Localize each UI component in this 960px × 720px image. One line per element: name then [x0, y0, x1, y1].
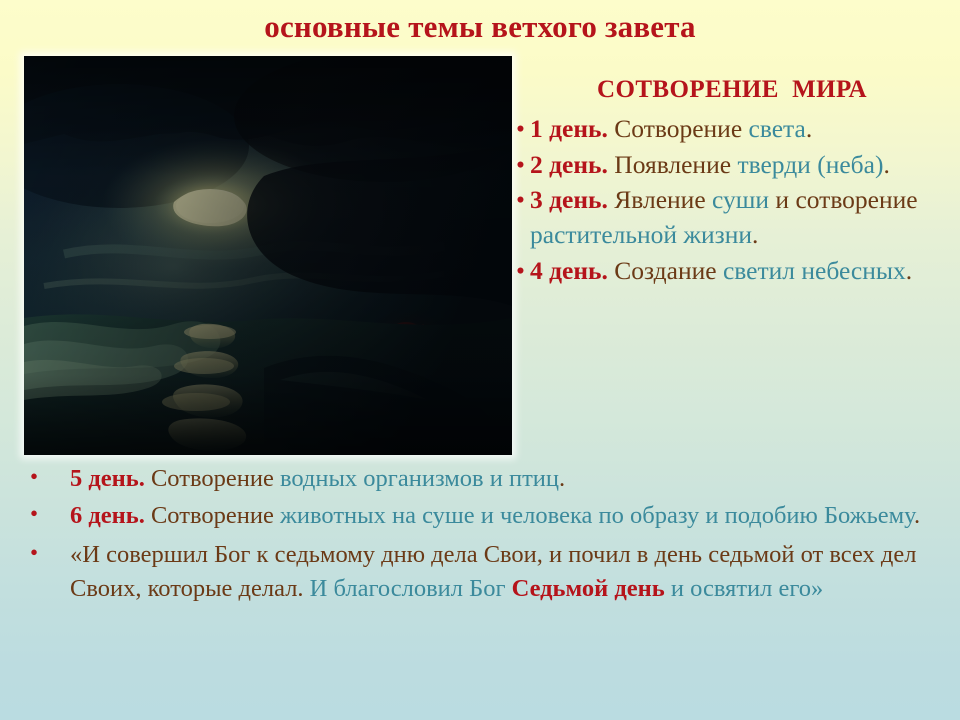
day-highlight: светил небесных — [723, 256, 906, 285]
bullet-icon: • — [30, 461, 38, 494]
bullet-icon: • — [30, 498, 38, 531]
bottom-bullet-list: •5 день. Сотворение водных организмов и … — [14, 462, 950, 609]
bullet-icon: • — [516, 112, 525, 147]
creation-heading: СОТВОРЕНИЕ МИРА — [516, 76, 948, 104]
bullet-icon: • — [516, 254, 525, 289]
bullet-icon: • — [516, 148, 525, 183]
slide-canvas: основные темы ветхого завета — [0, 0, 960, 720]
day-highlight: животных на суше и человека по образу и … — [280, 502, 914, 529]
list-item-day-2: •2 день. Появление тверди (неба). — [516, 148, 948, 183]
day-label: 4 день. — [530, 256, 608, 285]
day-highlight: суши — [712, 185, 769, 214]
day-text-after: . — [752, 220, 758, 249]
day-label: 6 день. — [70, 502, 145, 529]
day-text-after: . — [806, 114, 812, 143]
quote-emphasis-seventh-day: Седьмой день — [512, 575, 665, 602]
day-text-before: Сотворение — [145, 502, 280, 529]
day-text-before: Явление — [608, 185, 712, 214]
creation-of-world-block: СОТВОРЕНИЕ МИРА •1 день. Сотворение свет… — [516, 76, 948, 289]
storm-sea-painting — [24, 56, 512, 455]
quote-part-3: и освятил его» — [665, 575, 824, 602]
day-text-after: . — [914, 502, 920, 529]
day-label: 2 день. — [530, 150, 608, 179]
day-highlight-2: растительной жизни — [530, 220, 752, 249]
bullet-icon: • — [516, 183, 525, 218]
day-text-after: . — [883, 150, 889, 179]
day-text-after: . — [559, 465, 565, 492]
painting-frame — [24, 56, 512, 455]
page-title: основные темы ветхого завета — [0, 8, 960, 45]
day-highlight: водных организмов и птиц — [280, 465, 559, 492]
day-highlight: света — [749, 114, 806, 143]
quote-part-2: И благословил Бог — [310, 575, 512, 602]
list-item-day-6: •6 день. Сотворение животных на суше и ч… — [14, 499, 950, 534]
list-item-day-3: •3 день. Явление суши и сотворение расти… — [516, 183, 948, 252]
day-highlight: тверди (неба) — [737, 150, 883, 179]
list-item-day-5: •5 день. Сотворение водных организмов и … — [14, 462, 950, 497]
day-label: 3 день. — [530, 185, 608, 214]
day-text-before: Сотворение — [608, 114, 749, 143]
day-text-before: Появление — [608, 150, 738, 179]
day-label: 5 день. — [70, 465, 145, 492]
list-item-seventh-day-quote: • «И совершил Бог к седьмому дню дела Св… — [14, 538, 950, 608]
day-text-mid: и сотворение — [769, 185, 918, 214]
day-text-after: . — [906, 256, 912, 285]
list-item-day-4: •4 день. Создание светил небесных. — [516, 254, 948, 289]
list-item-day-1: •1 день. Сотворение света. — [516, 112, 948, 147]
day-text-before: Создание — [608, 256, 723, 285]
bullet-icon: • — [30, 537, 38, 570]
day-label: 1 день. — [530, 114, 608, 143]
day-text-before: Сотворение — [145, 465, 280, 492]
